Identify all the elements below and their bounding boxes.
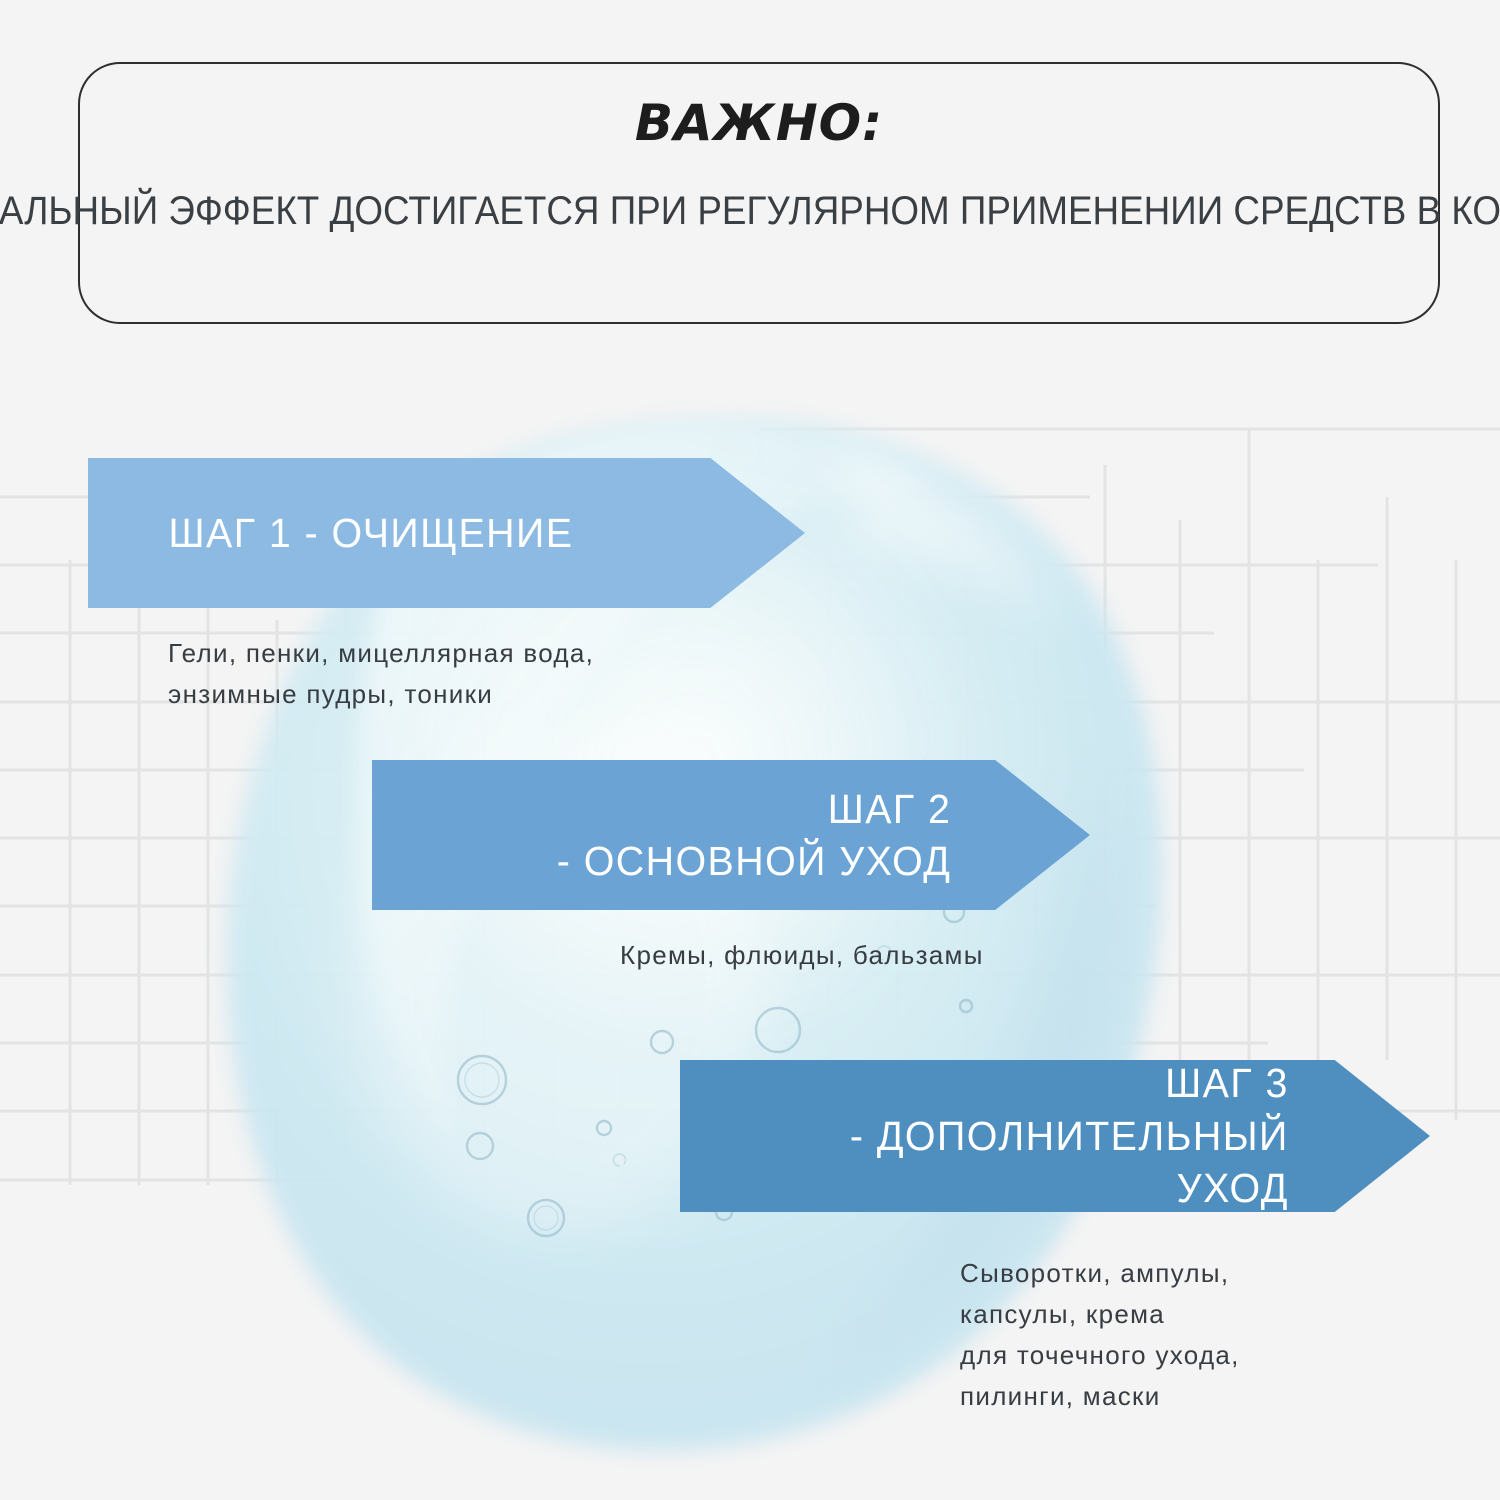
step-1-caption: Гели, пенки, мицеллярная вода, энзимные …	[168, 633, 594, 715]
step-3-caption: Сыворотки, ампулы, капсулы, крема для то…	[960, 1253, 1240, 1417]
step-3-banner[interactable]: ШАГ 3 - ДОПОЛНИТЕЛЬНЫЙ УХОД	[680, 1060, 1430, 1212]
step-2-label: ШАГ 2 - ОСНОВНОЙ УХОД	[443, 783, 952, 888]
poster-canvas: ВАЖНО: МАКСИМАЛЬНЫЙ ЭФФЕКТ ДОСТИГАЕТСЯ П…	[0, 0, 1500, 1500]
callout-title: ВАЖНО:	[635, 96, 883, 151]
step-2-caption: Кремы, флюиды, бальзамы	[620, 935, 984, 976]
step-2-banner[interactable]: ШАГ 2 - ОСНОВНОЙ УХОД	[372, 760, 1090, 910]
step-1-banner[interactable]: ШАГ 1 - ОЧИЩЕНИЕ	[88, 458, 805, 608]
important-callout: ВАЖНО: МАКСИМАЛЬНЫЙ ЭФФЕКТ ДОСТИГАЕТСЯ П…	[78, 62, 1440, 324]
callout-subtitle: МАКСИМАЛЬНЫЙ ЭФФЕКТ ДОСТИГАЕТСЯ ПРИ РЕГУ…	[0, 185, 1500, 238]
step-3-label: ШАГ 3 - ДОПОЛНИТЕЛЬНЫЙ УХОД	[751, 1057, 1289, 1214]
step-1-label: ШАГ 1 - ОЧИЩЕНИЕ	[169, 507, 675, 559]
